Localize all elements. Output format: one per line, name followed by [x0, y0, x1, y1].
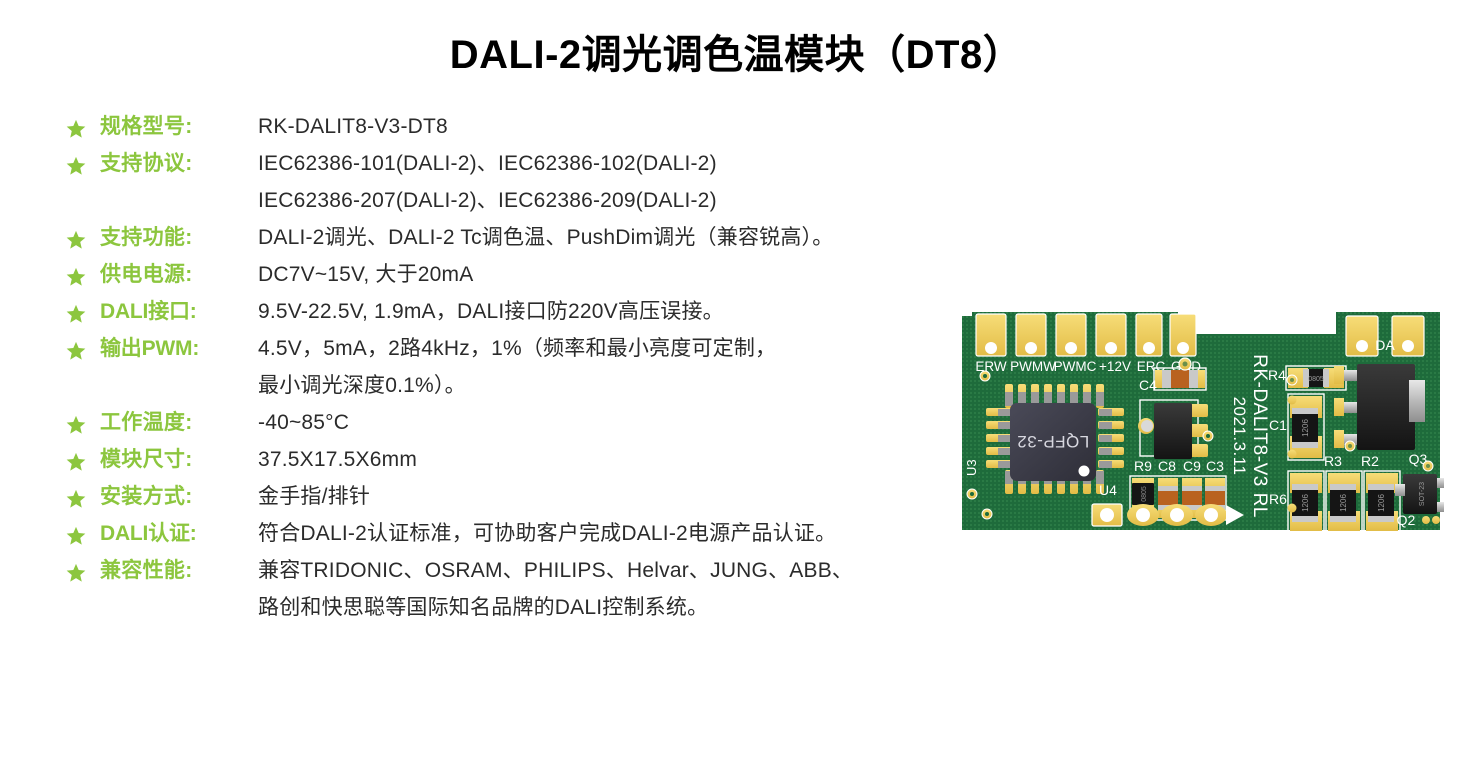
spec-value: 符合DALI-2认证标准，可协助客户完成DALI-2电源产品认证。	[258, 519, 1066, 549]
spec-row: 支持功能: DALI-2调光、DALI-2 Tc调色温、PushDim调光（兼容…	[66, 223, 1066, 260]
ref-r2: R2	[1361, 453, 1379, 469]
spec-label: DALI认证:	[100, 519, 258, 549]
star-icon	[66, 151, 100, 181]
pad-label-da: DA	[1375, 337, 1395, 353]
spec-row: 工作温度: -40~85°C	[66, 408, 1066, 445]
spec-label: 安装方式:	[100, 482, 258, 512]
spec-row: DALI认证: 符合DALI-2认证标准，可协助客户完成DALI-2电源产品认证…	[66, 519, 1066, 556]
ref-r9: R9	[1134, 458, 1152, 474]
pin-label-12v: +12V	[1099, 359, 1131, 374]
pin-label-pwmc: PWMC	[1054, 359, 1097, 374]
svg-text:0805: 0805	[1308, 376, 1324, 383]
spec-label: 规格型号:	[100, 112, 258, 142]
spec-label: 输出PWM:	[100, 334, 258, 364]
spec-value-continuation: 路创和快思聪等国际知名品牌的DALI控制系统。	[258, 593, 1066, 630]
pcb-board-image: ERW PWMW PWMC +12V ERC GND DA	[958, 308, 1444, 540]
ref-r6: R6	[1269, 491, 1287, 507]
star-icon	[66, 521, 100, 551]
spec-label: 支持功能:	[100, 223, 258, 253]
spec-value: 兼容TRIDONIC、OSRAM、PHILIPS、Helvar、JUNG、ABB…	[258, 556, 1066, 586]
svg-text:1206: 1206	[1339, 494, 1348, 512]
star-icon	[66, 484, 100, 514]
bottom-test-pads	[1092, 504, 1244, 526]
silkscreen-date: 2021.3.11	[1230, 397, 1249, 476]
ref-r3: R3	[1324, 453, 1342, 469]
spec-row: 输出PWM: 4.5V，5mA，2路4kHz，1%（频率和最小亮度可定制，	[66, 334, 1066, 371]
star-icon	[66, 447, 100, 477]
spec-label: 供电电源:	[100, 260, 258, 290]
spec-value: 37.5X17.5X6mm	[258, 445, 1066, 475]
star-icon	[66, 114, 100, 144]
spec-label: 支持协议:	[100, 149, 258, 179]
pin-label-erw: ERW	[975, 359, 1007, 374]
spec-value: 金手指/排针	[258, 482, 1066, 512]
spec-value: 9.5V-22.5V, 1.9mA，DALI接口防220V高压误接。	[258, 297, 1066, 327]
spec-row: 模块尺寸: 37.5X17.5X6mm	[66, 445, 1066, 482]
spec-value-continuation: 最小调光深度0.1%）。	[258, 371, 1066, 408]
svg-text:1206: 1206	[1377, 494, 1386, 512]
star-icon	[66, 558, 100, 588]
pin-label-pwmw: PWMW	[1010, 359, 1056, 374]
spec-row: 规格型号: RK-DALIT8-V3-DT8	[66, 112, 1066, 149]
ref-c8: C8	[1158, 458, 1176, 474]
main-ic-marking: LQFP-32	[1017, 432, 1089, 451]
spec-label: 模块尺寸:	[100, 445, 258, 475]
svg-text:1206: 1206	[1301, 494, 1310, 512]
ref-r4: R4	[1268, 367, 1286, 383]
spec-label: 工作温度:	[100, 408, 258, 438]
spec-value: RK-DALIT8-V3-DT8	[258, 112, 1066, 142]
ref-c3: C3	[1206, 458, 1224, 474]
ref-q2: Q2	[1397, 512, 1416, 528]
spec-row: 安装方式: 金手指/排针	[66, 482, 1066, 519]
svg-text:0805: 0805	[1141, 486, 1148, 502]
spec-list: 规格型号: RK-DALIT8-V3-DT8 支持协议: IEC62386-10…	[66, 112, 1066, 630]
spec-row: 供电电源: DC7V~15V, 大于20mA	[66, 260, 1066, 297]
ref-c9: C9	[1183, 458, 1201, 474]
svg-text:1206: 1206	[1301, 419, 1310, 437]
spec-value-continuation: IEC62386-207(DALI-2)、IEC62386-209(DALI-2…	[258, 186, 1066, 223]
spec-value: DALI-2调光、DALI-2 Tc调色温、PushDim调光（兼容锐高）。	[258, 223, 1066, 253]
star-icon	[66, 262, 100, 292]
star-icon	[66, 225, 100, 255]
silkscreen-title: RK-DALIT8-V3 RL	[1249, 354, 1270, 518]
star-icon	[66, 299, 100, 329]
star-icon	[66, 336, 100, 366]
ref-c1: C1	[1269, 417, 1287, 433]
spec-value: -40~85°C	[258, 408, 1066, 438]
ref-u3: U3	[964, 459, 979, 476]
spec-label: 兼容性能:	[100, 556, 258, 586]
page-title: DALI-2调光调色温模块（DT8）	[0, 22, 1473, 80]
ref-u4: U4	[1099, 482, 1117, 498]
spec-row: DALI接口: 9.5V-22.5V, 1.9mA，DALI接口防220V高压误…	[66, 297, 1066, 334]
ref-c4: C4	[1139, 377, 1157, 393]
spec-value: 4.5V，5mA，2路4kHz，1%（频率和最小亮度可定制，	[258, 334, 1066, 364]
svg-text:SOT-23: SOT-23	[1419, 482, 1426, 506]
spec-label: DALI接口:	[100, 297, 258, 327]
star-icon	[66, 410, 100, 440]
spec-row: 支持协议: IEC62386-101(DALI-2)、IEC62386-102(…	[66, 149, 1066, 186]
spec-value: DC7V~15V, 大于20mA	[258, 260, 1066, 290]
spec-value: IEC62386-101(DALI-2)、IEC62386-102(DALI-2…	[258, 149, 1066, 179]
spec-row: 兼容性能: 兼容TRIDONIC、OSRAM、PHILIPS、Helvar、JU…	[66, 556, 1066, 593]
